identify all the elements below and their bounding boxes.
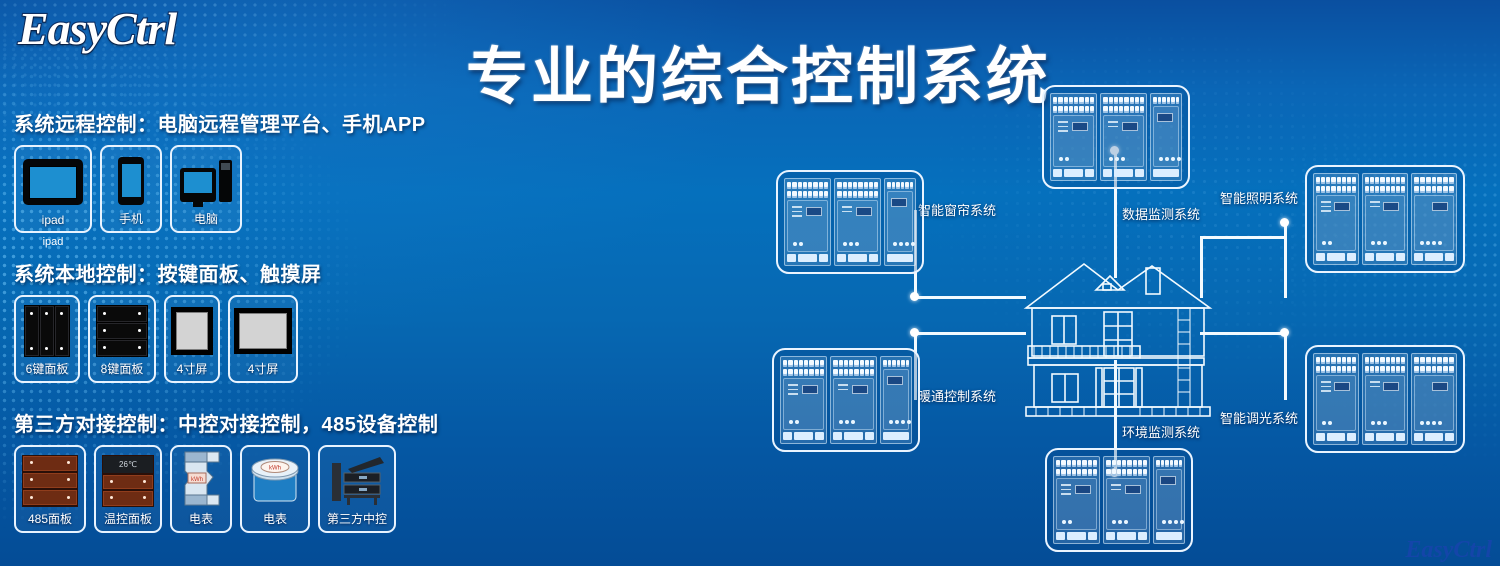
connector-dot-hvac	[910, 328, 919, 337]
card-label: 电表	[263, 510, 287, 527]
terminal-strip	[1103, 97, 1144, 104]
device-card-meter-round[interactable]: kWh 电表	[240, 445, 310, 533]
module-footer	[1365, 253, 1405, 261]
device-card-phone[interactable]: 手机	[100, 145, 162, 233]
node-label-dimming: 智能调光系统	[1220, 408, 1298, 427]
module-lighting[interactable]	[1305, 165, 1465, 273]
group-title: 第三方对接控制：中控对接控制，485设备控制	[14, 408, 438, 437]
device-card-485-panel[interactable]: 485面板	[14, 445, 86, 533]
card-label: 6键面板	[26, 360, 69, 377]
card-sub-label: ipad	[16, 236, 90, 248]
module-footer	[833, 432, 874, 440]
module-block	[1411, 173, 1457, 265]
terminal-strip	[1365, 177, 1405, 184]
terminal-strip	[1106, 469, 1147, 476]
terminal-strip	[833, 360, 874, 367]
card-label: 温控面板	[104, 510, 152, 527]
module-dimming[interactable]	[1305, 345, 1465, 453]
module-face	[1414, 195, 1454, 251]
terminal-strip	[1414, 357, 1454, 364]
desktop-computer-icon	[177, 154, 235, 207]
electric-meter-din-icon: kWh	[177, 451, 225, 507]
poster-canvas: EasyCtrl 专业的综合控制系统 系统远程控制：电脑远程管理平台、手机APP…	[0, 0, 1500, 566]
terminal-strip	[1053, 106, 1094, 113]
svg-text:kWh: kWh	[191, 477, 203, 483]
module-face	[1316, 375, 1356, 431]
module-block	[880, 356, 912, 444]
card-label: 8键面板	[101, 360, 144, 377]
group-title: 系统本地控制：按键面板、触摸屏	[14, 258, 322, 287]
node-label-lighting: 智能照明系统	[1220, 188, 1298, 207]
node-label-hvac: 暖通控制系统	[918, 386, 996, 405]
terminal-strip	[1365, 357, 1405, 364]
module-footer	[1053, 169, 1094, 177]
terminal-strip	[1056, 460, 1097, 467]
module-block	[780, 356, 827, 444]
card-label: 电脑	[194, 210, 218, 227]
terminal-strip	[1316, 357, 1356, 364]
connector-dot-lighting	[1280, 218, 1289, 227]
module-footer	[887, 254, 913, 262]
card-label: 电表	[189, 510, 213, 527]
device-card-thermostat[interactable]: 26℃ 温控面板	[94, 445, 162, 533]
thermostat-display: 26℃	[103, 456, 153, 473]
module-face	[883, 369, 909, 430]
module-face	[1056, 478, 1097, 530]
module-footer	[1414, 253, 1454, 261]
brand-logo: EasyCtrl	[18, 2, 176, 55]
device-card-8key-panel[interactable]: 8键面板	[88, 295, 156, 383]
module-footer	[1156, 532, 1182, 540]
module-block	[830, 356, 877, 444]
module-inner	[1313, 173, 1457, 265]
module-block	[884, 178, 916, 266]
wire-dimming-v	[1284, 332, 1287, 400]
house-svg	[1018, 250, 1218, 420]
terminal-strip	[883, 360, 909, 367]
module-face	[1414, 375, 1454, 431]
module-block	[1411, 353, 1457, 445]
module-face	[1103, 115, 1144, 167]
svg-text:kWh: kWh	[269, 465, 281, 471]
module-face	[1365, 375, 1405, 431]
group-thirdparty-control: 第三方对接控制：中控对接控制，485设备控制 485面板 26℃ 温控面板	[0, 408, 438, 533]
terminal-strip	[837, 182, 878, 189]
terminal-strip	[1316, 186, 1356, 193]
rs485-panel-icon	[21, 454, 79, 507]
electric-meter-round-icon: kWh	[247, 454, 303, 507]
module-face	[887, 191, 913, 252]
terminal-strip	[1365, 186, 1405, 193]
node-label-data: 数据监测系统	[1122, 204, 1200, 223]
terminal-strip	[1056, 469, 1097, 476]
connector-dot-curtain	[910, 292, 919, 301]
module-block	[1050, 93, 1097, 181]
module-curtain[interactable]	[776, 170, 924, 274]
terminal-strip	[1414, 177, 1454, 184]
node-label-environment: 环境监测系统	[1122, 422, 1200, 441]
terminal-strip	[1153, 97, 1179, 104]
terminal-strip	[787, 182, 828, 189]
card-label: 485面板	[28, 510, 72, 527]
terminal-strip	[1414, 186, 1454, 193]
card-label: 第三方中控	[327, 510, 387, 527]
terminal-strip	[1365, 366, 1405, 373]
thermostat-panel-icon: 26℃	[101, 454, 155, 507]
module-inner	[1313, 353, 1457, 445]
module-block	[1103, 456, 1150, 544]
module-block	[1053, 456, 1100, 544]
card-label: 4寸屏	[248, 360, 279, 377]
tablet-icon	[21, 154, 85, 210]
wire-lighting-h	[1200, 236, 1286, 239]
terminal-strip	[1156, 460, 1182, 467]
module-footer	[837, 254, 878, 262]
electric-meter-round-svg: kWh	[247, 455, 303, 507]
card-row: ipad ipad 手机 电脑	[14, 145, 426, 233]
terminal-strip	[837, 191, 878, 198]
module-face	[1156, 469, 1182, 530]
node-label-curtain: 智能窗帘系统	[918, 200, 996, 219]
terminal-strip	[787, 191, 828, 198]
module-footer	[1103, 169, 1144, 177]
module-inner	[1053, 456, 1185, 544]
card-row: 485面板 26℃ 温控面板	[14, 445, 438, 533]
module-footer	[1365, 433, 1405, 441]
module-face	[1365, 195, 1405, 251]
module-footer	[1106, 532, 1147, 540]
terminal-strip	[887, 182, 913, 189]
card-label: ipad	[42, 213, 65, 227]
module-environment[interactable]	[1045, 448, 1193, 552]
module-footer	[1316, 433, 1356, 441]
house-illustration	[1018, 250, 1218, 420]
module-footer	[1414, 433, 1454, 441]
module-inner	[1050, 93, 1182, 181]
module-block	[1150, 93, 1182, 181]
device-card-screen-large[interactable]: 4寸屏	[228, 295, 298, 383]
module-block	[1362, 353, 1408, 445]
wire-lighting-v	[1284, 222, 1287, 298]
module-footer	[1316, 253, 1356, 261]
module-face	[1106, 478, 1147, 530]
device-card-third-party-controller[interactable]: 第三方中控	[318, 445, 396, 533]
terminal-strip	[1053, 97, 1094, 104]
terminal-strip	[1316, 366, 1356, 373]
module-footer	[883, 432, 909, 440]
eight-key-panel-icon	[95, 304, 149, 357]
six-key-panel-icon	[21, 304, 73, 357]
module-face	[1153, 106, 1179, 167]
terminal-strip	[1414, 366, 1454, 373]
card-row: 6键面板 8键面板 4寸屏 4寸屏	[14, 295, 322, 383]
module-block	[1362, 173, 1408, 265]
module-face	[833, 378, 874, 430]
device-card-screen-small[interactable]: 4寸屏	[164, 295, 220, 383]
device-card-ipad[interactable]: ipad ipad	[14, 145, 92, 233]
watermark-logo: EasyCtrl	[1405, 537, 1492, 564]
module-footer	[1153, 169, 1179, 177]
module-face	[787, 200, 828, 252]
module-inner	[780, 356, 912, 444]
wire-curtain-h	[914, 296, 1026, 299]
module-block	[1313, 353, 1359, 445]
terminal-strip	[1103, 106, 1144, 113]
terminal-strip	[833, 369, 874, 376]
module-data[interactable]	[1042, 85, 1190, 189]
module-block	[1153, 456, 1185, 544]
module-face	[837, 200, 878, 252]
module-block	[1313, 173, 1359, 265]
module-face	[1316, 195, 1356, 251]
module-block	[834, 178, 881, 266]
group-title: 系统远程控制：电脑远程管理平台、手机APP	[14, 108, 426, 137]
module-block	[1100, 93, 1147, 181]
terminal-strip	[783, 360, 824, 367]
touchscreen-small-icon	[171, 304, 213, 357]
smartphone-icon	[107, 154, 155, 207]
module-footer	[787, 254, 828, 262]
module-footer	[783, 432, 824, 440]
touchscreen-large-icon	[235, 304, 291, 357]
group-remote-control: 系统远程控制：电脑远程管理平台、手机APP ipad ipad 手机 电脑	[0, 108, 426, 233]
connector-dot-dimming	[1280, 328, 1289, 337]
device-card-meter-din[interactable]: kWh 电表	[170, 445, 232, 533]
third-party-controller-icon	[325, 453, 389, 507]
module-footer	[1056, 532, 1097, 540]
electric-meter-din-svg: kWh	[178, 451, 224, 507]
group-local-control: 系统本地控制：按键面板、触摸屏 6键面板 8键面板 4寸屏	[0, 258, 322, 383]
terminal-strip	[1106, 460, 1147, 467]
module-block	[784, 178, 831, 266]
terminal-strip	[783, 369, 824, 376]
card-label: 手机	[119, 210, 143, 227]
terminal-strip	[1316, 177, 1356, 184]
module-face	[1053, 115, 1094, 167]
module-inner	[784, 178, 916, 266]
device-card-6key-panel[interactable]: 6键面板	[14, 295, 80, 383]
module-face	[783, 378, 824, 430]
wire-hvac-h	[914, 332, 1026, 335]
card-label: 4寸屏	[177, 360, 208, 377]
controller-rack-svg	[328, 453, 386, 507]
module-hvac[interactable]	[772, 348, 920, 452]
device-card-computer[interactable]: 电脑	[170, 145, 242, 233]
